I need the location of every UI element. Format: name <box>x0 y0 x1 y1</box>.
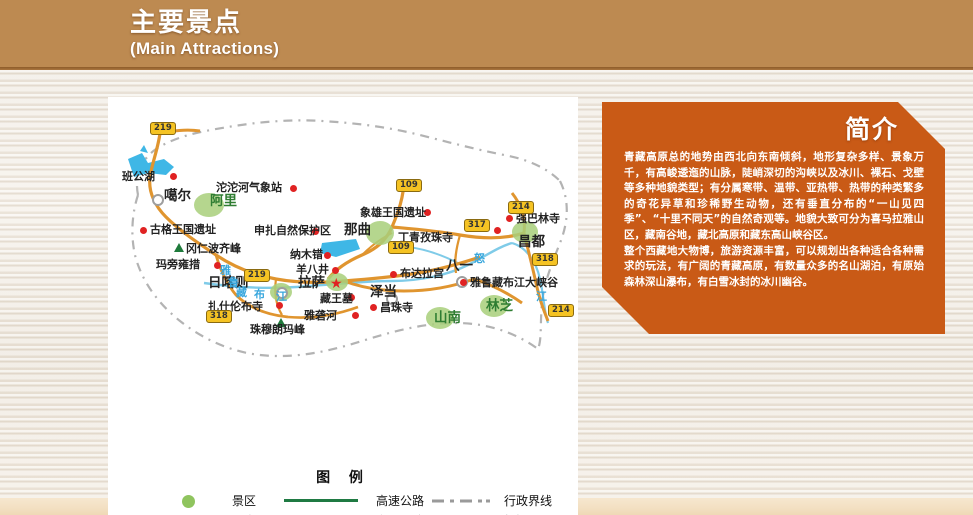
bridge-icon <box>428 511 494 515</box>
map-marker-namtso[interactable] <box>324 252 331 259</box>
map-river-label-jiang2: 江 <box>536 291 547 302</box>
map-marker-qambalin-temple[interactable] <box>506 215 513 222</box>
map-place-label-yarlung-river: 雅砻河 <box>304 310 337 321</box>
map-marker-zizhu-temple[interactable] <box>494 227 501 234</box>
introduction-body: 青藏高原总的地势由西北向东南倾斜，地形复杂多样、景象万千，有高峻逶迤的山脉，陡峭… <box>624 150 924 290</box>
legend-label-bridge: 桥梁 <box>504 512 528 515</box>
expressway-line-icon <box>280 491 366 510</box>
map-marker-guge-ruins[interactable] <box>140 227 147 234</box>
map-place-label-gar: 噶尔 <box>164 191 191 202</box>
map-marker-yarlung-canyon[interactable] <box>460 279 467 286</box>
map-river-label-ya: 雅 <box>220 265 231 276</box>
map-place-label-manasarovar: 玛旁雍措 <box>156 259 200 270</box>
map-place-label-xainza-reserve: 申扎自然保护区 <box>254 225 331 236</box>
introduction-paragraph-2: 整个西藏地大物博，旅游资源丰富，可以规划出各种适合各种需求的玩法，有广阔的青藏高… <box>624 244 924 291</box>
map-road-shield-318-south: 318 <box>206 310 232 323</box>
map-marker-kailash-peak <box>174 243 184 252</box>
map-place-label-potala-palace: 布达拉宫 <box>400 268 444 279</box>
main-road-line-icon <box>280 511 366 515</box>
map-marker-lhasa-capital[interactable]: ★ <box>330 277 343 291</box>
map-river-label-jiang: 江 <box>276 291 287 302</box>
introduction-paragraph-1: 青藏高原总的地势由西北向东南倾斜，地形复杂多样、景象万千，有高峻逶迤的山脉，陡峭… <box>624 150 924 244</box>
legend-label-scenic-area: 景区 <box>232 492 256 509</box>
map-river-label-bu: 布 <box>254 289 265 300</box>
map-marker-yarlung-river[interactable] <box>352 312 359 319</box>
scenic-area-blob-icon <box>178 491 224 510</box>
map-region-label-ali: 阿里 <box>210 196 237 207</box>
map-river-label-nu: 怒 <box>474 253 485 264</box>
map-road-shield-214-east: 214 <box>548 304 574 317</box>
legend-title: 图 例 <box>108 467 578 487</box>
map-place-label-bayi: 八一 <box>446 261 473 272</box>
map-place-label-tibetan-kings-tombs: 藏王墓 <box>320 293 353 304</box>
map-place-label-yarlung-canyon: 雅鲁藏布江大峡谷 <box>470 277 558 288</box>
map-place-label-yangbajain: 羊八井 <box>296 264 329 275</box>
map-road-shield-318-east: 318 <box>532 253 558 266</box>
map-road-shield-109-mid: 109 <box>388 241 414 254</box>
page-title-english: (Main Attractions) <box>130 38 279 60</box>
admin-boundary-dash-icon <box>428 491 494 510</box>
page-title-chinese: 主要景点 <box>130 8 279 38</box>
map-place-label-bangong-lake: 班公湖 <box>122 171 155 182</box>
map-road-shield-219-north: 219 <box>150 122 176 135</box>
map-place-label-tuotuohe: 沱沱河气象站 <box>216 182 282 193</box>
map-region-label-nyingchi: 林芝 <box>486 301 513 312</box>
map-region-label-nagqu: 那曲 <box>344 225 371 236</box>
map-place-label-zedang: 泽当 <box>370 287 397 298</box>
map-place-label-kailash-peak: 冈仁波齐峰 <box>186 243 241 254</box>
legend-label-expressway: 高速公路 <box>376 492 424 509</box>
header-title-group: 主要景点 (Main Attractions) <box>130 8 279 60</box>
map-marker-gar[interactable] <box>152 194 164 206</box>
map-marker-potala-palace[interactable] <box>390 271 397 278</box>
map-panel[interactable]: 阿里 那曲 昌都 山南 林芝 ★ 班公湖 噶尔 古格王国遗址 冈仁波齐峰 玛旁雍… <box>108 97 578 515</box>
legend-label-admin-boundary: 行政界线 <box>504 492 552 509</box>
legend-label-main-road: 主要公路 <box>376 512 424 515</box>
map-place-label-lhasa: 拉萨 <box>298 278 325 289</box>
map-place-label-xiangxiong-ruins: 象雄王国遗址 <box>360 207 426 218</box>
map-legend: 图 例 景区 景点 山峰 <box>108 467 578 515</box>
map-road-shield-317: 317 <box>464 219 490 232</box>
map-marker-bangong-lake[interactable] <box>170 173 177 180</box>
map-river-label-zang: 藏 <box>236 287 247 298</box>
map-marker-tashilhunpo[interactable] <box>276 302 283 309</box>
map-marker-tuotuohe[interactable] <box>290 185 297 192</box>
map-place-label-guge-ruins: 古格王国遗址 <box>150 224 216 235</box>
map-road-shield-219-south: 219 <box>244 269 270 282</box>
map-place-label-qambalin-temple: 强巴林寺 <box>516 213 560 224</box>
introduction-panel: 简介 青藏高原总的地势由西北向东南倾斜，地形复杂多样、景象万千，有高峻逶迤的山脉… <box>602 102 945 334</box>
map-road-shield-214-north: 214 <box>508 201 534 214</box>
map-place-label-everest-peak: 珠穆朗玛峰 <box>250 324 305 335</box>
page-header-wood-banner: 主要景点 (Main Attractions) <box>0 0 973 70</box>
map-marker-changzhu-temple[interactable] <box>370 304 377 311</box>
map-road-shield-109-north: 109 <box>396 179 422 192</box>
scenic-spot-dot-icon <box>178 511 224 515</box>
map-marker-yangbajain[interactable] <box>332 267 339 274</box>
introduction-title: 简介 <box>845 110 899 146</box>
map-region-label-shannan: 山南 <box>434 313 461 324</box>
legend-label-scenic-spot: 景点 <box>232 512 256 515</box>
map-place-label-changzhu-temple: 昌珠寺 <box>380 302 413 313</box>
map-region-label-chamdo: 昌都 <box>518 237 545 248</box>
map-place-label-namtso: 纳木错 <box>290 249 323 260</box>
